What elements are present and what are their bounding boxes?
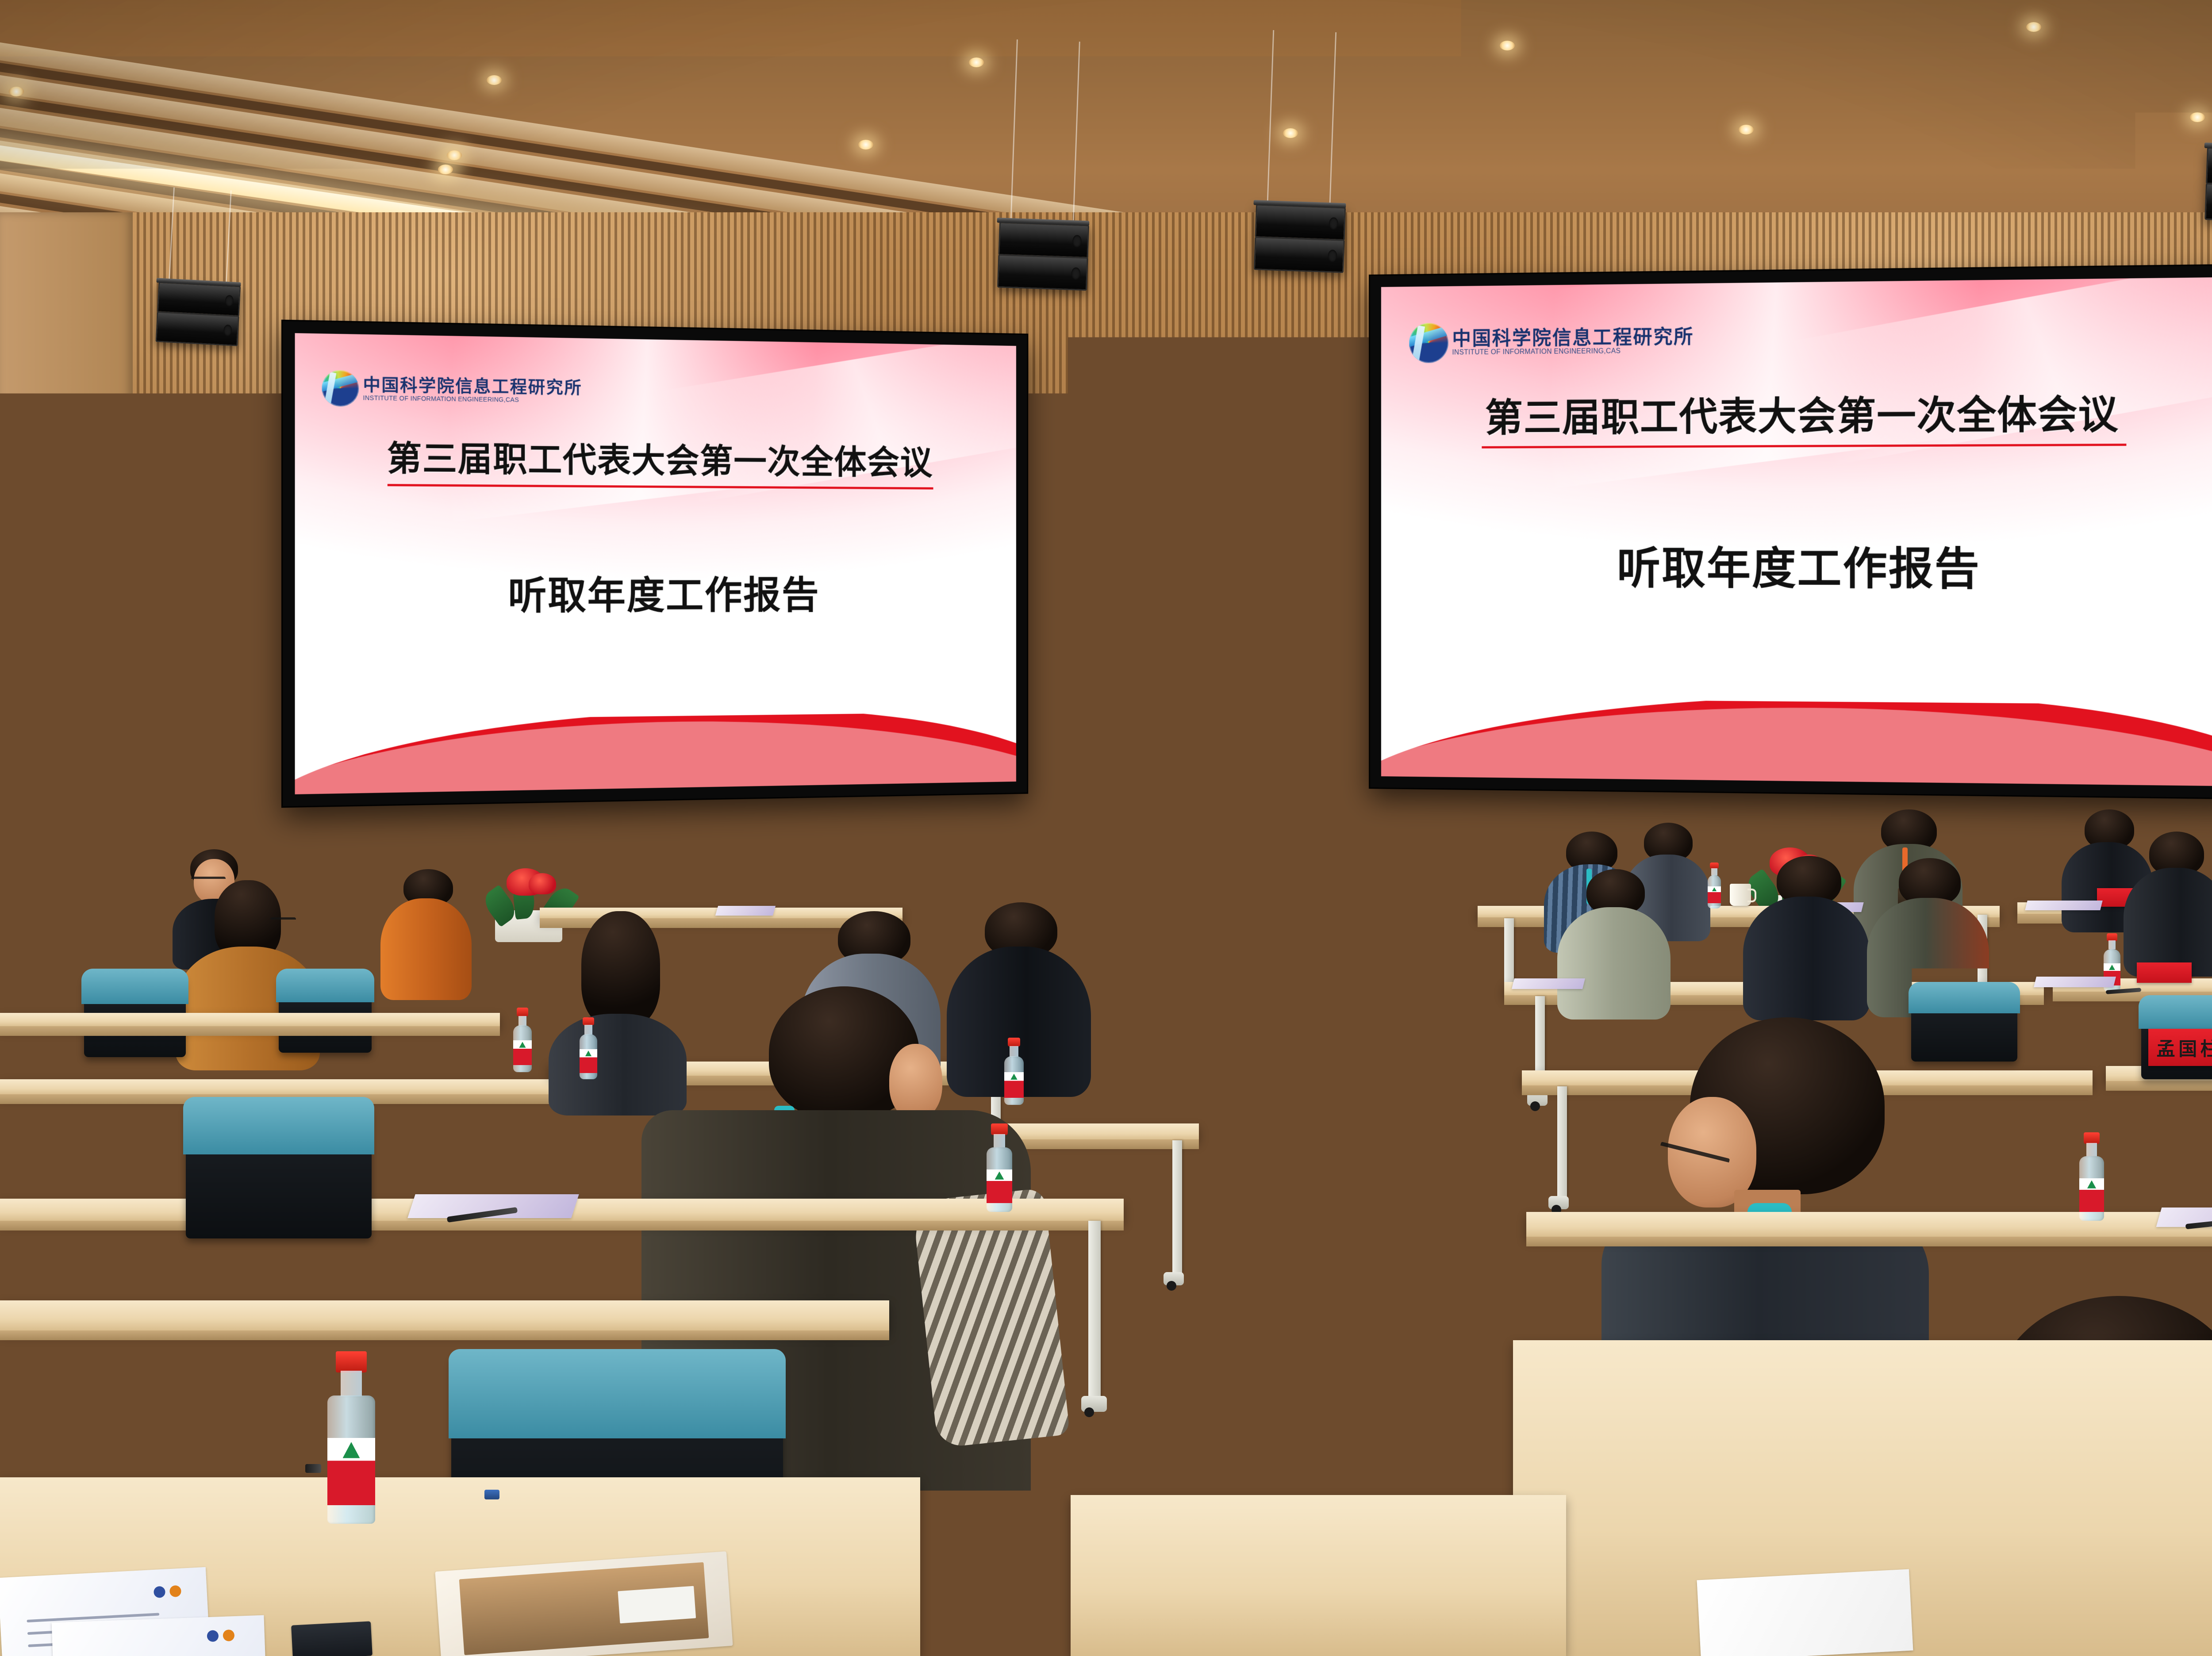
table-leg: [1557, 1086, 1567, 1197]
slide-logo: 中国科学院信息工程研究所 INSTITUTE OF INFORMATION EN…: [322, 370, 582, 409]
meeting-document: [1512, 978, 1585, 989]
audience-member: [2124, 832, 2212, 973]
meeting-document: [1149, 903, 1214, 912]
water-bottle: [1708, 862, 1721, 908]
foreground-table: [1526, 1212, 2212, 1238]
meeting-document: [2034, 977, 2116, 987]
name-card: [2137, 962, 2192, 983]
ceiling-spotlight: [1283, 128, 1298, 138]
name-card: [702, 886, 744, 904]
slide-logo-en: INSTITUTE OF INFORMATION ENGINEERING,CAS: [1452, 347, 1694, 356]
slide-logo-cn: 中国科学院信息工程研究所: [1452, 327, 1694, 349]
person-torso: [1557, 907, 1671, 1020]
water-bottle: [580, 1017, 597, 1079]
person-glasses: [12, 885, 54, 891]
ceiling-spotlight: [2190, 112, 2205, 122]
table-leg: [1172, 1140, 1182, 1273]
binder-clip: [305, 1464, 321, 1473]
name-card: 孟国柱: [2148, 1029, 2212, 1066]
audience-member: [380, 869, 473, 997]
table-leg: [1283, 960, 1293, 1062]
ceiling-spotlight: [2026, 22, 2041, 32]
line-array-speaker: [997, 222, 1087, 296]
slide-logo: 中国科学院信息工程研究所 INSTITUTE OF INFORMATION EN…: [1409, 320, 1694, 363]
meeting-document: [715, 906, 776, 916]
water-bottle: [513, 1008, 532, 1072]
slide-footer-decoration: [295, 712, 1016, 794]
slide-subtitle: 听取年度工作报告: [295, 564, 1016, 621]
meeting-document: [1697, 1569, 1913, 1656]
table-caster: [1316, 1012, 1336, 1025]
table-leg: [1088, 1221, 1101, 1398]
slide-subtitle: 听取年度工作报告: [1381, 533, 2212, 598]
water-bottle: [1220, 868, 1233, 910]
person-head: [889, 1044, 942, 1119]
institute-circular-logo-icon: [1409, 323, 1448, 363]
water-bottle: [2079, 1132, 2104, 1221]
slide-title: 第三届职工代表大会第一次全体会议: [1381, 382, 2212, 443]
subwoofer: [1389, 876, 1475, 964]
right-led-screen[interactable]: 中国科学院信息工程研究所 INSTITUTE OF INFORMATION EN…: [1370, 265, 2212, 798]
audience-table: [0, 1013, 500, 1027]
table-caster: [1164, 1272, 1184, 1285]
slide-title: 第三届职工代表大会第一次全体会议: [295, 429, 1016, 484]
table-caster: [1081, 1396, 1107, 1412]
audience-member: [1743, 856, 1871, 1015]
institute-circular-logo-icon: [322, 370, 359, 406]
ceiling-spotlight: [438, 165, 453, 174]
ceiling-spotlight: [487, 75, 502, 85]
table-leg: [1323, 920, 1333, 1013]
line-array-speaker: [155, 282, 238, 350]
name-card: 杨芸: [1110, 911, 1168, 933]
slide-footer-decoration: [1381, 698, 2212, 786]
ceiling-spotlight: [1739, 125, 1754, 134]
ceiling-spotlight: [447, 150, 462, 160]
ceiling-spotlight: [9, 87, 24, 96]
person-torso: [380, 898, 472, 1000]
table-caster: [1276, 1061, 1296, 1074]
tea-cup: [1234, 892, 1252, 909]
conference-hall-photo: 中国科学院信息工程研究所 INSTITUTE OF INFORMATION EN…: [0, 0, 2212, 1656]
table-caster: [1548, 1196, 1569, 1209]
binder-clip: [484, 1490, 499, 1499]
person-glasses: [270, 917, 296, 923]
water-bottle: [327, 1351, 375, 1524]
audience-member: [1557, 869, 1672, 1015]
meeting-booklet: [52, 1615, 267, 1656]
person-torso: [1743, 897, 1870, 1020]
audience-table: [0, 1079, 575, 1095]
ceiling-spotlight: [1500, 41, 1515, 50]
person-head: [12, 865, 61, 917]
person-torso: [2124, 868, 2212, 977]
left-led-screen[interactable]: 中国科学院信息工程研究所 INSTITUTE OF INFORMATION EN…: [283, 321, 1027, 806]
ceiling-spotlight: [858, 140, 873, 149]
water-bottle: [987, 1123, 1012, 1212]
speaker-glasses: [1176, 745, 1211, 751]
meeting-document: [2025, 901, 2102, 910]
ceiling-spotlight: [969, 57, 984, 67]
meeting-document: [1273, 900, 1329, 909]
slide-right: 中国科学院信息工程研究所 INSTITUTE OF INFORMATION EN…: [1381, 277, 2212, 786]
person-glasses: [166, 837, 195, 843]
line-array-speaker: [1254, 204, 1344, 278]
foreground-table: [0, 1300, 889, 1331]
meeting-chair[interactable]: [186, 1101, 372, 1238]
phone[interactable]: [291, 1621, 373, 1656]
tea-cup: [677, 885, 697, 905]
slide-left: 中国科学院信息工程研究所 INSTITUTE OF INFORMATION EN…: [295, 333, 1016, 794]
table-leg: [473, 1027, 483, 1129]
meeting-chair[interactable]: [1323, 1384, 1562, 1557]
